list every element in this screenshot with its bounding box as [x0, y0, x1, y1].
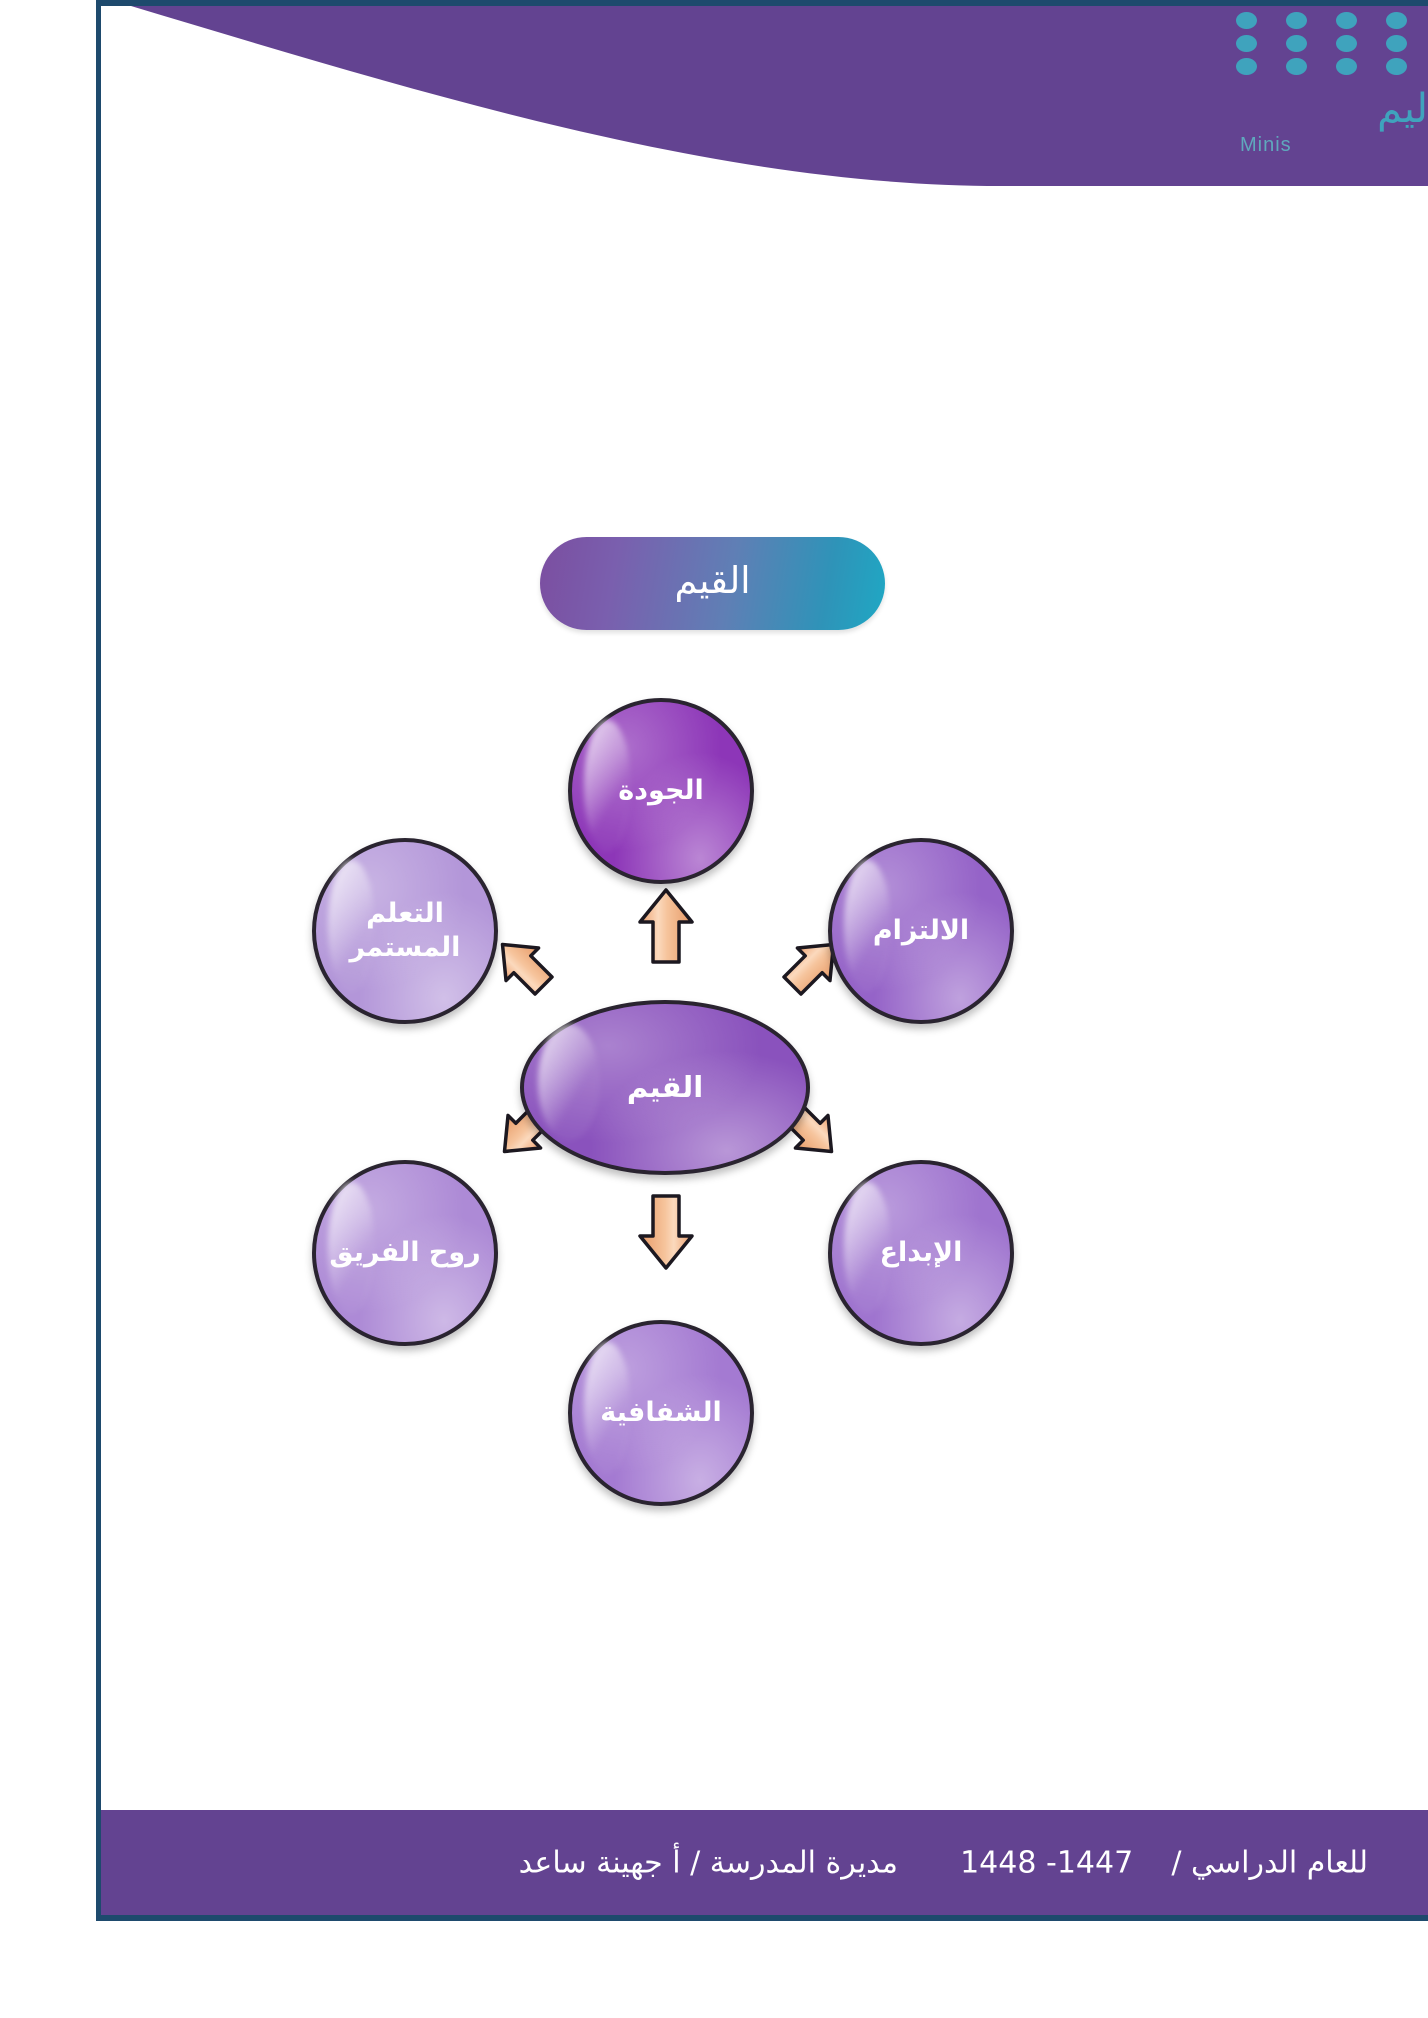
- footer-academic-year-label: للعام الدراسي /: [1171, 1845, 1368, 1880]
- value-node-commitment: الالتزام: [828, 838, 1014, 1024]
- arrow-up-left-icon: [490, 932, 556, 998]
- ministry-logo: ليم Minis: [1198, 8, 1428, 173]
- values-diagram: الجودة الالتزام الإبداع الشفافية روح الف…: [380, 700, 1050, 1460]
- value-node-team-spirit: روح الفريق: [312, 1160, 498, 1346]
- logo-english-text: Minis: [1240, 134, 1428, 157]
- value-node-transparency: الشفافية: [568, 1320, 754, 1506]
- value-node-commitment-label: الالتزام: [865, 914, 977, 948]
- grid-dots-logo-icon: [1236, 12, 1426, 76]
- value-node-creativity: الإبداع: [828, 1160, 1014, 1346]
- arrow-up-icon: [638, 888, 694, 966]
- value-node-center-label: القيم: [619, 1069, 711, 1105]
- page-footer: للعام الدراسي / 1447- 1448 مديرة المدرسة…: [101, 1810, 1428, 1915]
- footer-academic-year-value: 1447- 1448: [960, 1845, 1133, 1880]
- page-root: ليم Minis القيم: [0, 0, 1428, 2018]
- value-node-center: القيم: [520, 1000, 810, 1175]
- footer-principal-name: مديرة المدرسة / أ جهينة ساعد: [519, 1845, 898, 1880]
- value-node-transparency-label: الشفافية: [592, 1396, 730, 1430]
- page-frame-bottom-border: [96, 1915, 1428, 1921]
- value-node-creativity-label: الإبداع: [872, 1236, 971, 1270]
- page-title: القيم: [674, 559, 750, 608]
- page-frame-left-border: [96, 0, 101, 1921]
- logo-arabic-text: ليم: [1208, 86, 1428, 132]
- value-node-quality: الجودة: [568, 698, 754, 884]
- footer-academic-year: للعام الدراسي / 1447- 1448: [960, 1845, 1368, 1880]
- value-node-team-spirit-label: روح الفريق: [321, 1236, 488, 1270]
- page-title-banner: القيم: [540, 537, 885, 630]
- arrow-down-icon: [638, 1192, 694, 1270]
- value-node-continuous-learning: التعلم المستمر: [312, 838, 498, 1024]
- value-node-quality-label: الجودة: [610, 774, 712, 808]
- value-node-continuous-learning-label: التعلم المستمر: [316, 897, 494, 965]
